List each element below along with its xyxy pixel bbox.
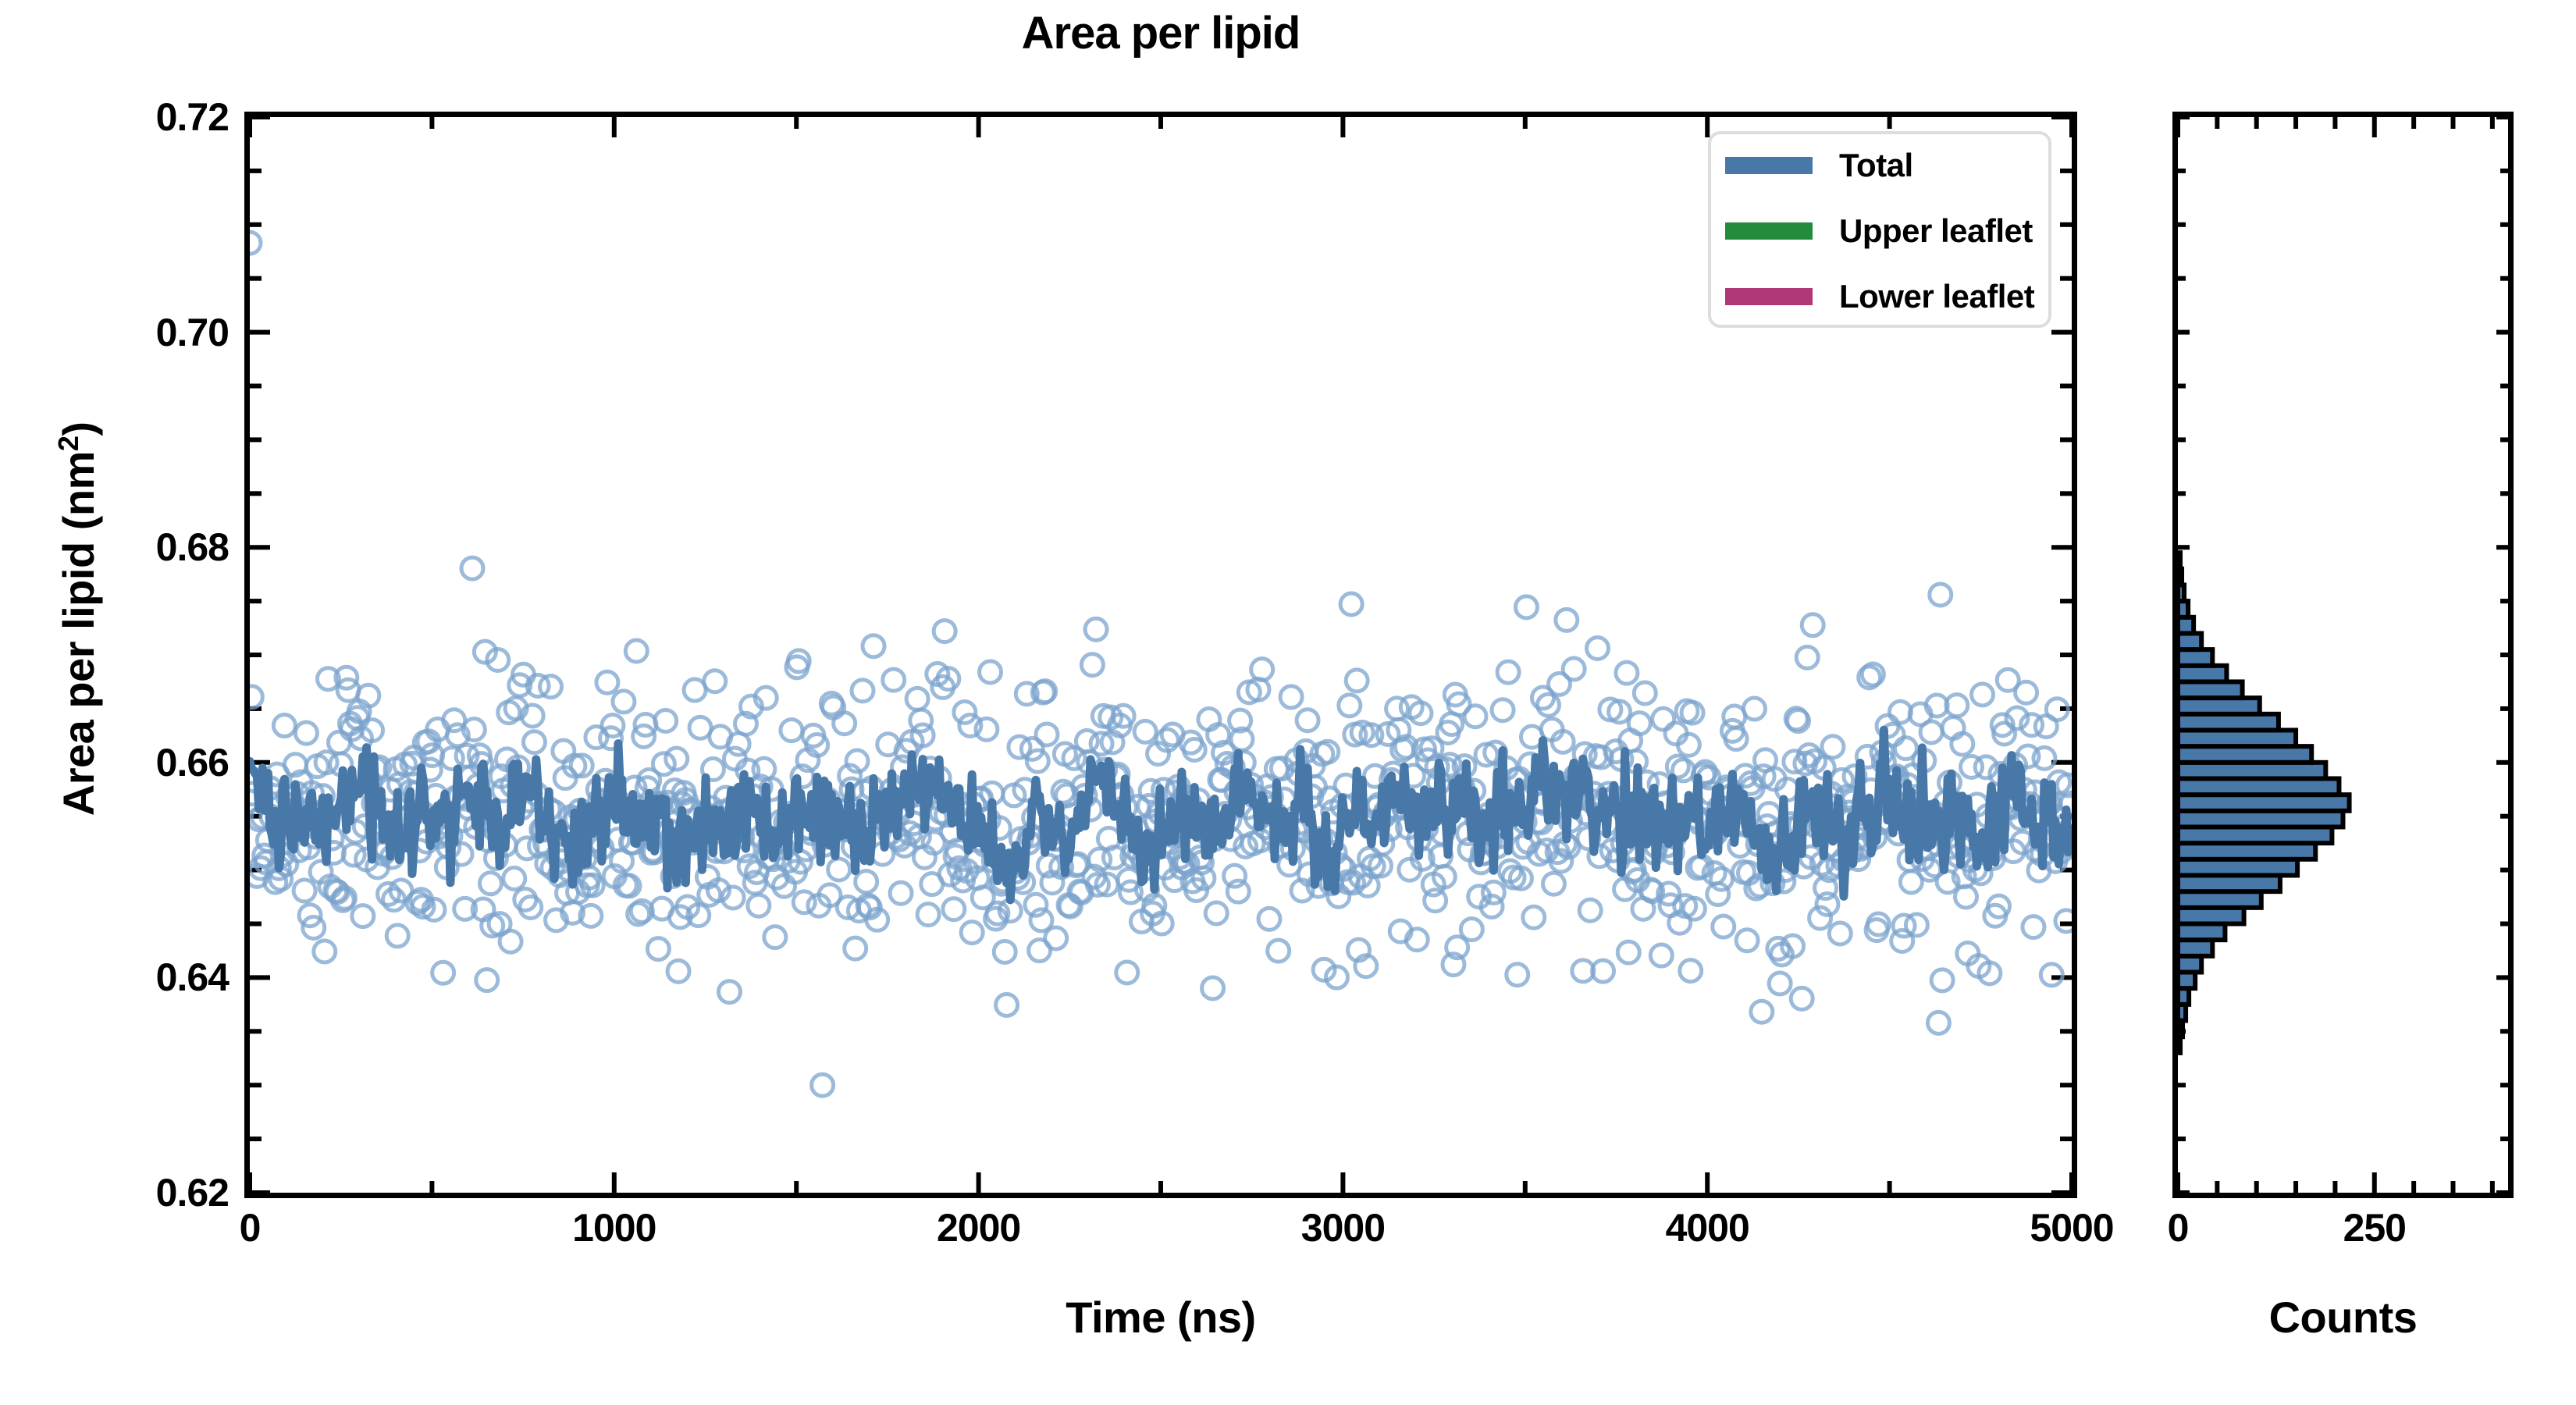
hist-x-axis-label: Counts	[2172, 1292, 2514, 1343]
x-axis-label: Time (ns)	[244, 1292, 2077, 1343]
legend-label-lower-leaflet: Lower leaflet	[1839, 280, 2034, 313]
histogram-axis-ticks	[2178, 117, 2508, 1193]
y-tick-label: 0.72	[49, 94, 229, 140]
histogram-canvas	[2178, 117, 2508, 1193]
histogram-panel	[2172, 112, 2514, 1198]
figure-canvas: Area per lipid Area per lipid (nm2) Time…	[0, 0, 2576, 1405]
chart-title: Area per lipid	[244, 11, 2077, 56]
y-tick-label: 0.66	[49, 740, 229, 785]
y-tick-label: 0.70	[49, 310, 229, 355]
scatter-points-total	[250, 232, 2072, 1096]
legend-item-upper-leaflet[interactable]: Upper leaflet	[1725, 215, 2041, 247]
y-tick-label: 0.62	[49, 1170, 229, 1215]
x-tick-label: 3000	[1301, 1205, 1385, 1250]
x-tick-label: 4000	[1666, 1205, 1749, 1250]
x-tick-label: 1000	[572, 1205, 656, 1250]
y-tick-label: 0.68	[49, 525, 229, 570]
x-tick-label: 5000	[2030, 1205, 2113, 1250]
legend-swatch-upper-leaflet	[1725, 222, 1813, 240]
legend-swatch-total	[1725, 157, 1813, 174]
histogram-x-tick-label: 0	[2168, 1205, 2189, 1250]
y-axis-label: Area per lipid (nm2)	[52, 307, 104, 931]
x-tick-label: 0	[240, 1205, 261, 1250]
legend-item-total[interactable]: Total	[1725, 150, 2041, 181]
legend-box[interactable]: Total Upper leaflet Lower leaflet	[1708, 131, 2051, 328]
x-tick-label: 2000	[937, 1205, 1020, 1250]
y-axis-label-tail: )	[54, 421, 103, 436]
legend-item-lower-leaflet[interactable]: Lower leaflet	[1725, 281, 2041, 312]
legend-swatch-lower-leaflet	[1725, 288, 1813, 305]
histogram-bars-total	[2178, 553, 2350, 1053]
y-tick-label: 0.64	[49, 955, 229, 1000]
histogram-x-tick-label: 250	[2343, 1205, 2406, 1250]
legend-label-upper-leaflet: Upper leaflet	[1839, 215, 2033, 247]
y-axis-label-exponent: 2	[52, 436, 84, 452]
legend-label-total: Total	[1839, 149, 1913, 182]
